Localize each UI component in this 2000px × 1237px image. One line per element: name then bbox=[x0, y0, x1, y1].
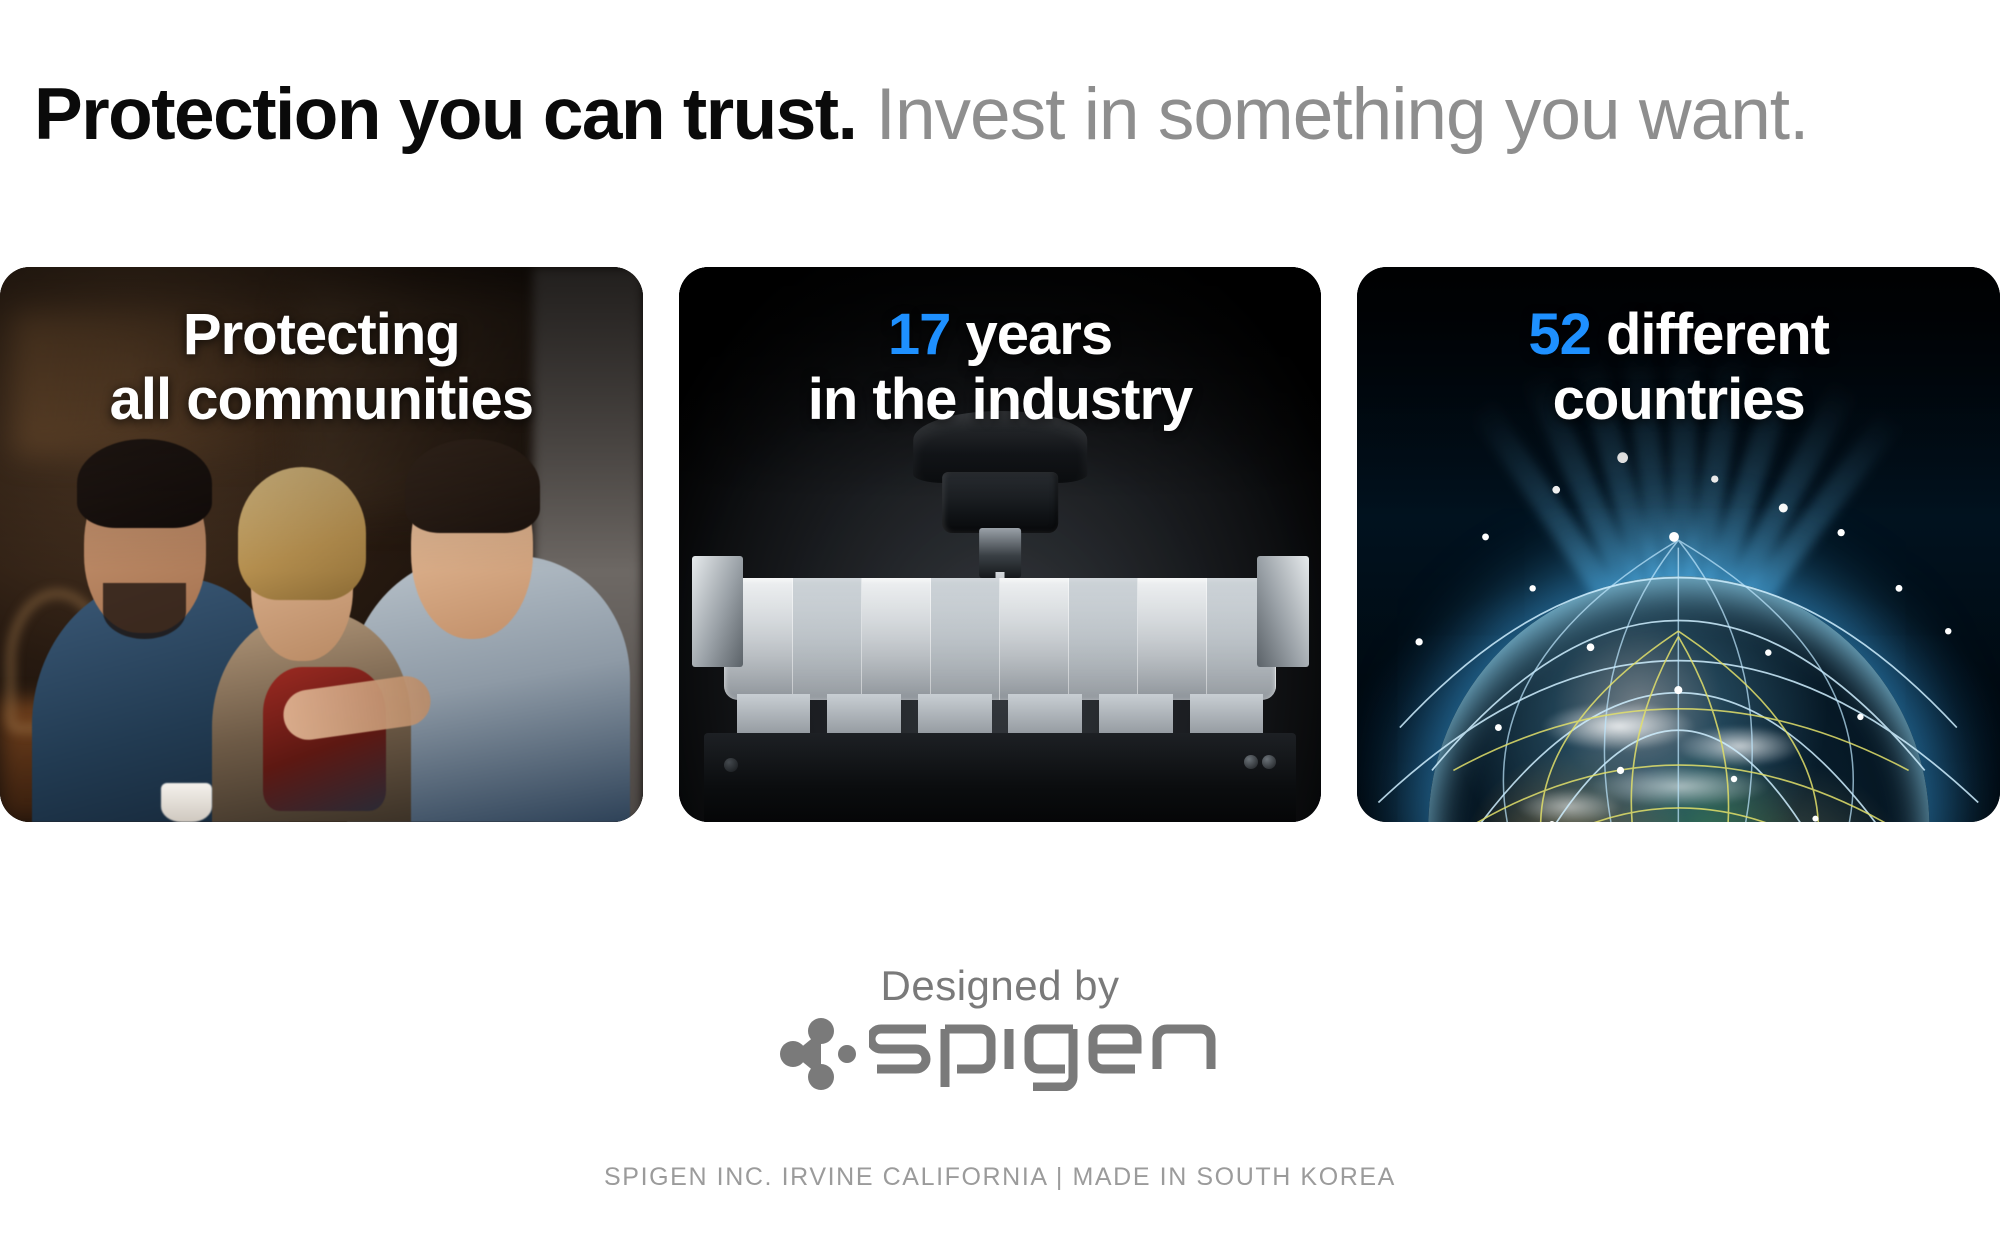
card-caption-countries: 52 different countries bbox=[1357, 303, 2000, 433]
card3-line1-rest: different bbox=[1591, 302, 1829, 367]
designed-by-label: Designed by bbox=[0, 965, 2000, 1007]
feature-card-years[interactable]: 17 years in the industry bbox=[679, 267, 1322, 822]
card2-number: 17 bbox=[888, 302, 951, 367]
spigen-logo bbox=[0, 1017, 2000, 1091]
feature-card-row: Protecting all communities bbox=[0, 267, 2000, 822]
spigen-wordmark bbox=[869, 1017, 1221, 1091]
footer-legal-text: SPIGEN INC. IRVINE CALIFORNIA | MADE IN … bbox=[0, 1163, 2000, 1192]
headline-light: Invest in something you want. bbox=[856, 74, 1808, 155]
card3-number: 52 bbox=[1528, 302, 1591, 367]
card1-line1: Protecting bbox=[183, 302, 460, 367]
headline-strong: Protection you can trust. bbox=[34, 74, 856, 155]
spigen-molecule-icon bbox=[779, 1018, 857, 1090]
card3-line2: countries bbox=[1553, 367, 1805, 432]
card1-line2: all communities bbox=[110, 367, 533, 432]
card2-line1-rest: years bbox=[950, 302, 1112, 367]
banner-root: Protection you can trust. Invest in some… bbox=[0, 0, 2000, 1237]
card-caption-years: 17 years in the industry bbox=[679, 303, 1322, 433]
card2-line2: in the industry bbox=[808, 367, 1193, 432]
feature-card-communities[interactable]: Protecting all communities bbox=[0, 267, 643, 822]
page-title: Protection you can trust. Invest in some… bbox=[34, 78, 1808, 151]
feature-card-countries[interactable]: 52 different countries bbox=[1357, 267, 2000, 822]
card-caption-communities: Protecting all communities bbox=[0, 303, 643, 433]
brand-block: Designed by bbox=[0, 965, 2000, 1091]
